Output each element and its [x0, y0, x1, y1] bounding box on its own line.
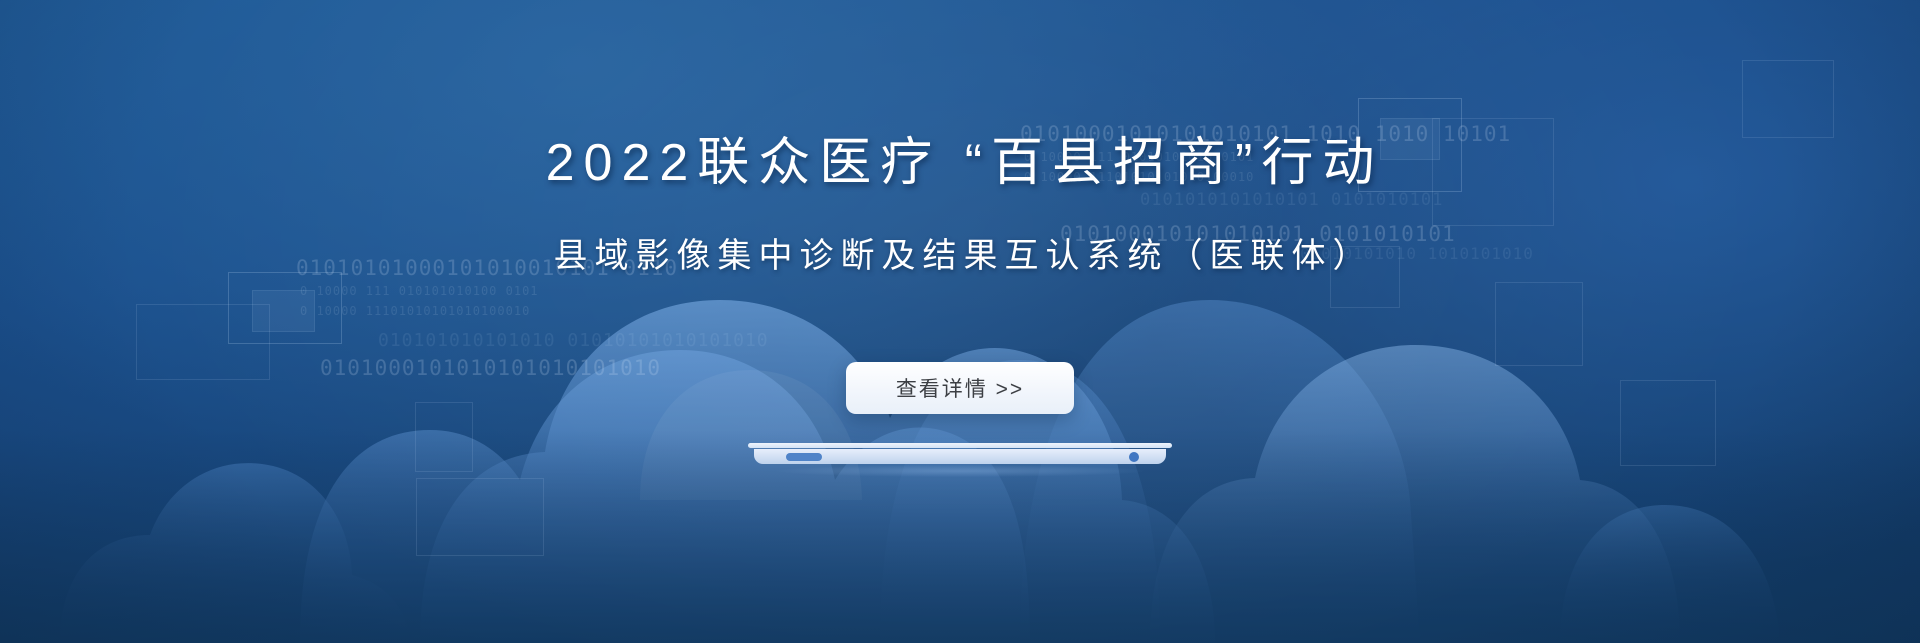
laptop-screen-edge [748, 443, 1172, 448]
banner-title: 2022联众医疗 “百县招商”行动 [0, 131, 1920, 195]
view-details-button[interactable]: 查看详情 >> [846, 362, 1074, 414]
banner-subtitle: 县域影像集中诊断及结果互认系统（医联体） [0, 233, 1920, 279]
laptop-trackpad-notch [786, 453, 822, 461]
banner-content: 2022联众医疗 “百县招商”行动 县域影像集中诊断及结果互认系统（医联体） 查… [0, 0, 1920, 643]
laptop-indicator-dot [1129, 452, 1139, 462]
laptop-shadow [776, 465, 1144, 477]
promo-banner: 01010101000101010010101 0110 0 10000 111… [0, 0, 1920, 643]
cta-container: 查看详情 >> [0, 362, 1920, 414]
laptop-illustration [748, 443, 1172, 469]
